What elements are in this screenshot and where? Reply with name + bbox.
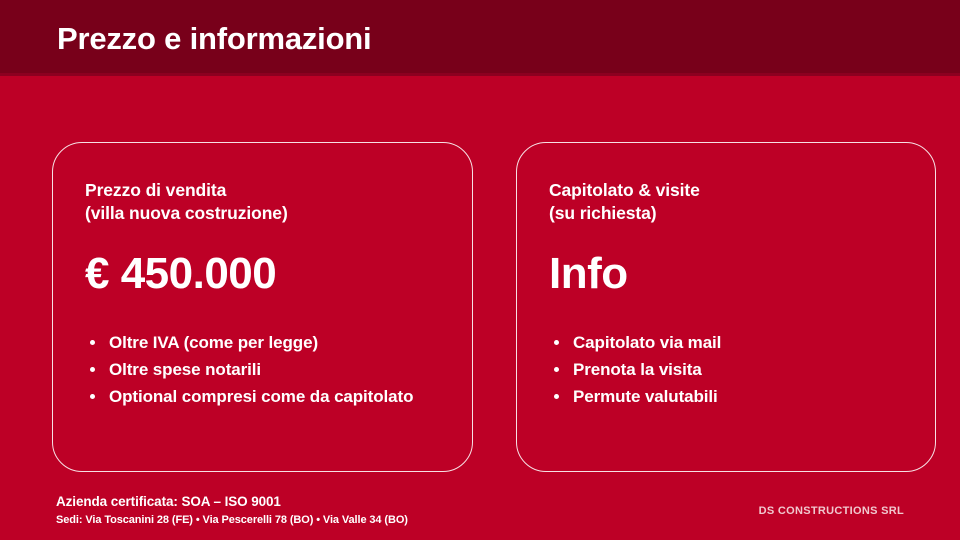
price-card-heading-line2: (villa nuova costruzione) — [85, 202, 448, 225]
list-item: Oltre IVA (come per legge) — [85, 329, 448, 356]
price-value: € 450.000 — [85, 249, 448, 299]
header-band: Prezzo e informazioni — [0, 0, 960, 76]
footer-left: Azienda certificata: SOA – ISO 9001 Sedi… — [56, 493, 676, 528]
price-card: Prezzo di vendita (villa nuova costruzio… — [52, 142, 473, 472]
page-title: Prezzo e informazioni — [57, 20, 371, 58]
list-item: Capitolato via mail — [549, 329, 911, 356]
certification-text: Azienda certificata: SOA – ISO 9001 — [56, 493, 676, 511]
info-card-bullet-list: Capitolato via mail Prenota la visita Pe… — [549, 329, 911, 410]
price-card-heading-line1: Prezzo di vendita — [85, 180, 226, 200]
price-card-heading: Prezzo di vendita (villa nuova costruzio… — [85, 179, 448, 225]
info-card-content: Capitolato & visite (su richiesta) Info … — [549, 179, 911, 410]
list-item-label: Oltre IVA (come per legge) — [109, 333, 318, 352]
info-card-heading-line2: (su richiesta) — [549, 202, 911, 225]
list-item: Oltre spese notarili — [85, 356, 448, 383]
list-item-label: Oltre spese notarili — [109, 360, 261, 379]
price-card-bullet-list: Oltre IVA (come per legge) Oltre spese n… — [85, 329, 448, 410]
bullet-dot-icon — [554, 340, 559, 345]
list-item: Optional compresi come da capitolato — [85, 383, 448, 410]
info-card-heading: Capitolato & visite (su richiesta) — [549, 179, 911, 225]
list-item-label: Capitolato via mail — [573, 333, 721, 352]
info-card: Capitolato & visite (su richiesta) Info … — [516, 142, 936, 472]
price-card-content: Prezzo di vendita (villa nuova costruzio… — [85, 179, 448, 410]
locations-text: Sedi: Via Toscanini 28 (FE) • Via Pescer… — [56, 513, 676, 528]
slide: Prezzo e informazioni Prezzo di vendita … — [0, 0, 960, 540]
info-value: Info — [549, 249, 911, 299]
company-name: DS CONSTRUCTIONS SRL — [759, 504, 904, 518]
list-item: Permute valutabili — [549, 383, 911, 410]
bullet-dot-icon — [90, 394, 95, 399]
bullet-dot-icon — [90, 367, 95, 372]
info-card-heading-line1: Capitolato & visite — [549, 180, 700, 200]
bullet-dot-icon — [554, 394, 559, 399]
list-item-label: Permute valutabili — [573, 387, 718, 406]
list-item-label: Prenota la visita — [573, 360, 702, 379]
bullet-dot-icon — [90, 340, 95, 345]
list-item-label: Optional compresi come da capitolato — [109, 387, 413, 406]
list-item: Prenota la visita — [549, 356, 911, 383]
bullet-dot-icon — [554, 367, 559, 372]
